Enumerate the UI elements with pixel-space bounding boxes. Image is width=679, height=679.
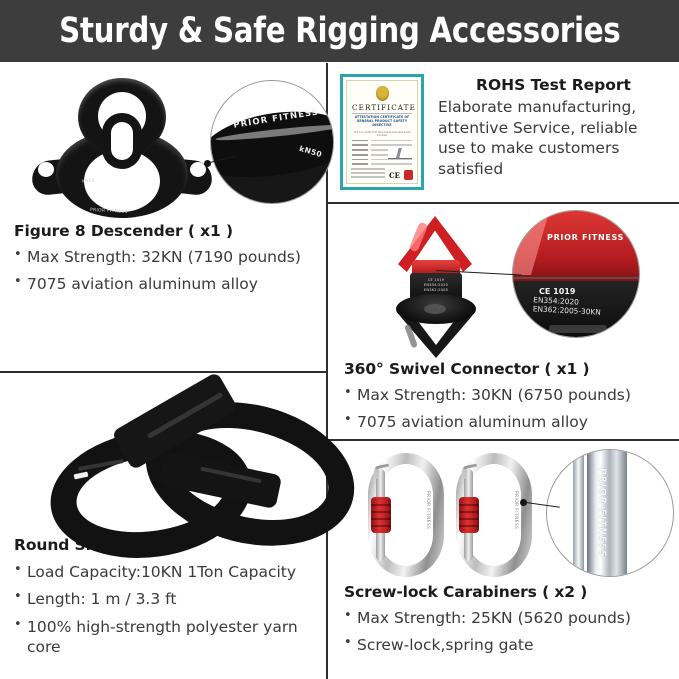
carabiner-engraving: PRIOR FITNESS xyxy=(513,491,518,529)
header-bar: Sturdy & Safe Rigging Accessories xyxy=(0,0,679,62)
list-item: 100% high-strength polyester yarn core xyxy=(14,617,312,658)
carabiners-title: Screw-lock Carabiners ( x2 ) xyxy=(344,583,665,601)
list-item: Max Strength: 32KN (7190 pounds) xyxy=(14,247,312,267)
list-item: Length: 1 m / 3.3 ft xyxy=(14,589,312,609)
magnifier-standards-text: EN354:2020 EN362:2005-30KN xyxy=(533,296,602,317)
rohs-text-block: ROHS Test Report Elaborate manufacturing… xyxy=(438,74,669,179)
carabiners-bullets: Max Strength: 25KN (5620 pounds) Screw-l… xyxy=(344,608,665,656)
list-item: Screw-lock,spring gate xyxy=(344,635,665,655)
carabiner-screw-lock xyxy=(371,497,391,533)
descender-stamp-rating: kN50 xyxy=(82,180,95,186)
figure-8-magnifier-circle: PRIOR FITNESS kN50 xyxy=(210,80,334,204)
round-sling-icon xyxy=(50,391,316,531)
ce-mark-icon: CE xyxy=(389,171,400,180)
figure-8-descender-art: kN50 PRIOR FITNESS PRIOR FITNESS kN50 xyxy=(14,72,312,222)
magnifier-brand-text: PRIOR FITNESS xyxy=(547,233,624,242)
list-item: Max Strength: 30KN (6750 pounds) xyxy=(344,385,665,405)
descender-notch-left xyxy=(38,162,54,177)
figure-8-title: Figure 8 Descender ( x1 ) xyxy=(14,222,312,240)
figure-8-bullets: Max Strength: 32KN (7190 pounds) 7075 av… xyxy=(14,247,312,295)
certificate-image: CERTIFICATE ATTESTATION CERTIFICATE OF G… xyxy=(340,74,424,190)
panel-figure-8-descender: kN50 PRIOR FITNESS PRIOR FITNESS kN50 Fi… xyxy=(0,66,326,371)
rohs-description: Elaborate manufacturing, attentive Servi… xyxy=(438,97,669,179)
panel-rohs-test-report: CERTIFICATE ATTESTATION CERTIFICATE OF G… xyxy=(328,64,679,202)
certification-logo-icon xyxy=(404,170,413,180)
page-title: Sturdy & Safe Rigging Accessories xyxy=(59,11,620,51)
descender-center-slot xyxy=(111,122,133,160)
round-sling-art xyxy=(14,381,312,533)
certificate-graphic xyxy=(388,148,412,159)
certificate-note: This is to certify that the product desc… xyxy=(352,131,412,137)
panel-swivel-connector: CE 1019 EN354:2020 EN362:2005 PRIOR FITN… xyxy=(328,204,679,439)
carabiner-magnifier-circle: PRIOR FITNESS xyxy=(546,449,674,577)
swivel-connector-icon: CE 1019 EN354:2020 EN362:2005 xyxy=(374,216,504,358)
swivel-body-text: CE 1019 EN354:2020 EN362:2005 xyxy=(418,278,454,293)
carabiner-screw-lock xyxy=(459,497,479,533)
magnifier-spine xyxy=(587,449,627,577)
infographic-page: Sturdy & Safe Rigging Accessories kN50 P… xyxy=(0,0,679,679)
carabiner-engraving: PRIOR FITNESS xyxy=(425,491,430,529)
list-item: Max Strength: 25KN (5620 pounds) xyxy=(344,608,665,628)
magnifier-base xyxy=(549,325,607,333)
certificate-footer: CE xyxy=(351,168,413,180)
certificate-heading: CERTIFICATE xyxy=(352,103,412,114)
carabiners-art: PRIOR FITNESS PRIOR FITNESS PRIOR FITNES… xyxy=(344,449,665,583)
magnifier-engraved-text: PRIOR FITNESS xyxy=(597,468,607,558)
rohs-title: ROHS Test Report xyxy=(438,76,669,94)
certificate-signature-lines xyxy=(351,168,385,180)
list-item: 7075 aviation aluminum alloy xyxy=(344,412,665,432)
magnifier-spine-edge xyxy=(573,449,584,577)
panel-screw-lock-carabiners: PRIOR FITNESS PRIOR FITNESS PRIOR FITNES… xyxy=(328,441,679,679)
round-sling-bullets: Load Capacity:10KN 1Ton Capacity Length:… xyxy=(14,562,312,658)
magnifier-seam xyxy=(512,277,640,279)
panel-round-sling: Round Sling （x1） Load Capacity:10KN 1Ton… xyxy=(0,373,326,679)
swivel-connector-art: CE 1019 EN354:2020 EN362:2005 PRIOR FITN… xyxy=(344,210,665,360)
carabiner-icon-1: PRIOR FITNESS xyxy=(368,453,444,577)
figure-8-descender-icon: kN50 PRIOR FITNESS xyxy=(32,78,212,218)
certificate-seal-icon xyxy=(376,86,389,101)
certificate-subtitle: ATTESTATION CERTIFICATE OF GENERAL PRODU… xyxy=(352,116,412,128)
list-item: 7075 aviation aluminum alloy xyxy=(14,274,312,294)
list-item: Load Capacity:10KN 1Ton Capacity xyxy=(14,562,312,582)
magnifier-ce-text: CE 1019 xyxy=(539,287,575,296)
swivel-bullets: Max Strength: 30KN (6750 pounds) 7075 av… xyxy=(344,385,665,433)
swivel-title: 360° Swivel Connector ( x1 ) xyxy=(344,360,665,378)
certificate-inner: CERTIFICATE ATTESTATION CERTIFICATE OF G… xyxy=(346,80,418,184)
swivel-bearing-hub xyxy=(424,304,446,314)
swivel-magnifier-circle: PRIOR FITNESS CE 1019 EN354:2020 EN362:2… xyxy=(512,210,640,338)
carabiner-icon-2: PRIOR FITNESS xyxy=(456,453,532,577)
